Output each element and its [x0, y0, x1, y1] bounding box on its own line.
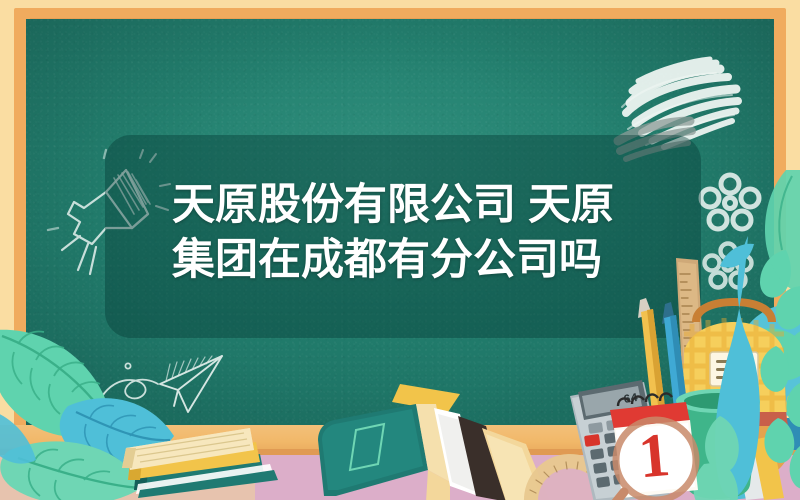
image-canvas: 天原股份有限公司 天原集团在成都有分公司吗 [0, 0, 800, 500]
stacked-books-left [118, 398, 318, 500]
open-book-center [300, 378, 550, 500]
desk-calendar-icon: 1 [600, 392, 710, 500]
page-title: 天原股份有限公司 天原集团在成都有分公司吗 [172, 178, 642, 288]
leaf-sprig-icon [716, 236, 756, 276]
calendar-day-number: 1 [636, 421, 673, 491]
